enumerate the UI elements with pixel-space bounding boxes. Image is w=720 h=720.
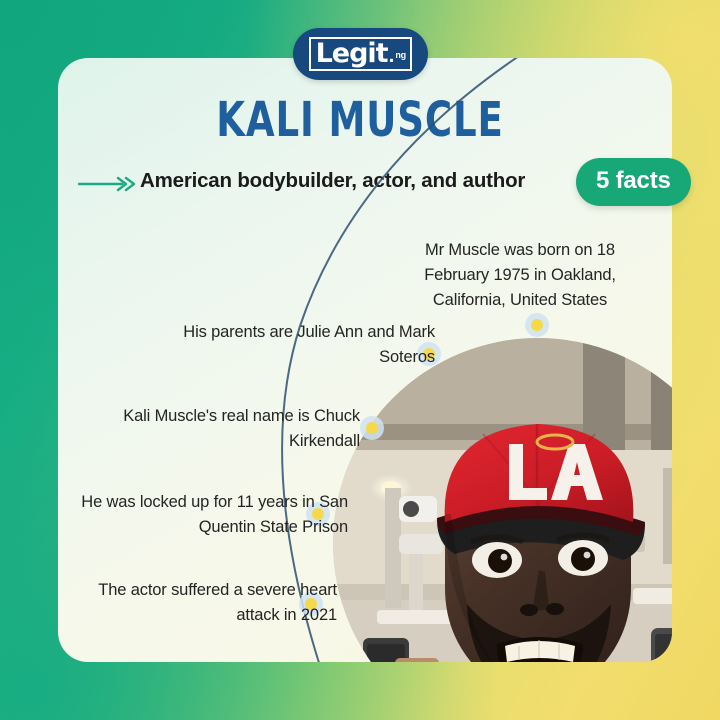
legit-ng-logo[interactable]: Legit . ng [293,28,428,80]
infographic-canvas: KALI MUSCLE American bodybuilder, actor,… [0,0,720,720]
logo-wordmark: Legit [316,40,388,67]
logo-inner: Legit . ng [309,37,413,71]
portrait-photo [333,338,672,662]
fact-item-5: The actor suffered a severe heart attack… [62,578,337,628]
page-subtitle: American bodybuilder, actor, and author [140,166,555,197]
fact-item-4: He was locked up for 11 years in San Que… [58,490,348,540]
facts-count-badge: 5 facts [576,158,691,206]
fact-item-3: Kali Muscle's real name is Chuck Kirkend… [110,404,360,454]
double-chevron-right-arrow-icon [78,176,136,192]
logo-tld: ng [395,51,405,59]
page-title: KALI MUSCLE [50,96,669,144]
logo-dot: . [389,45,395,66]
fact-item-2: His parents are Julie Ann and Mark Soter… [150,320,435,370]
portrait-photo-image [333,338,672,662]
logo-box: Legit . ng [309,37,413,71]
fact-item-1: Mr Muscle was born on 18 February 1975 i… [400,238,640,313]
